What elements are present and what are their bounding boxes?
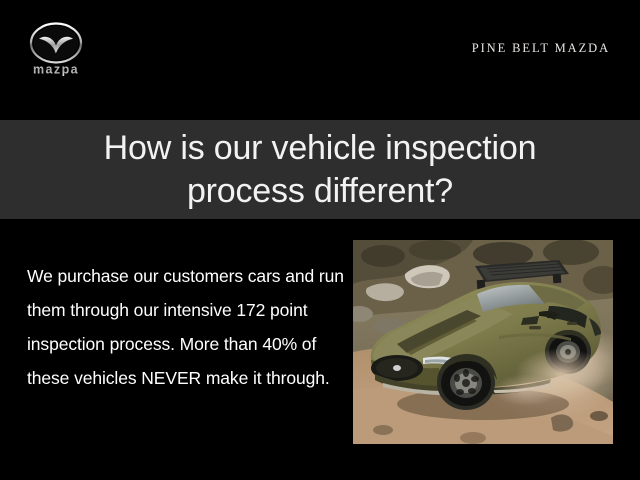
promo-slide: mazpa PINE BELT MAZDA How is our vehicle… bbox=[0, 0, 640, 480]
mazda-logo-icon: mazpa bbox=[22, 22, 90, 80]
vehicle-photo bbox=[353, 240, 613, 444]
page-title: How is our vehicle inspection process di… bbox=[20, 127, 620, 213]
dealer-name: PINE BELT MAZDA bbox=[472, 41, 610, 56]
slide-header: mazpa PINE BELT MAZDA bbox=[0, 0, 640, 120]
headline-line-2: process different? bbox=[20, 170, 620, 213]
headline-line-1: How is our vehicle inspection bbox=[20, 127, 620, 170]
headline-band: How is our vehicle inspection process di… bbox=[0, 120, 640, 219]
body-paragraph: We purchase our customers cars and run t… bbox=[27, 259, 345, 395]
svg-text:mazpa: mazpa bbox=[33, 63, 79, 77]
